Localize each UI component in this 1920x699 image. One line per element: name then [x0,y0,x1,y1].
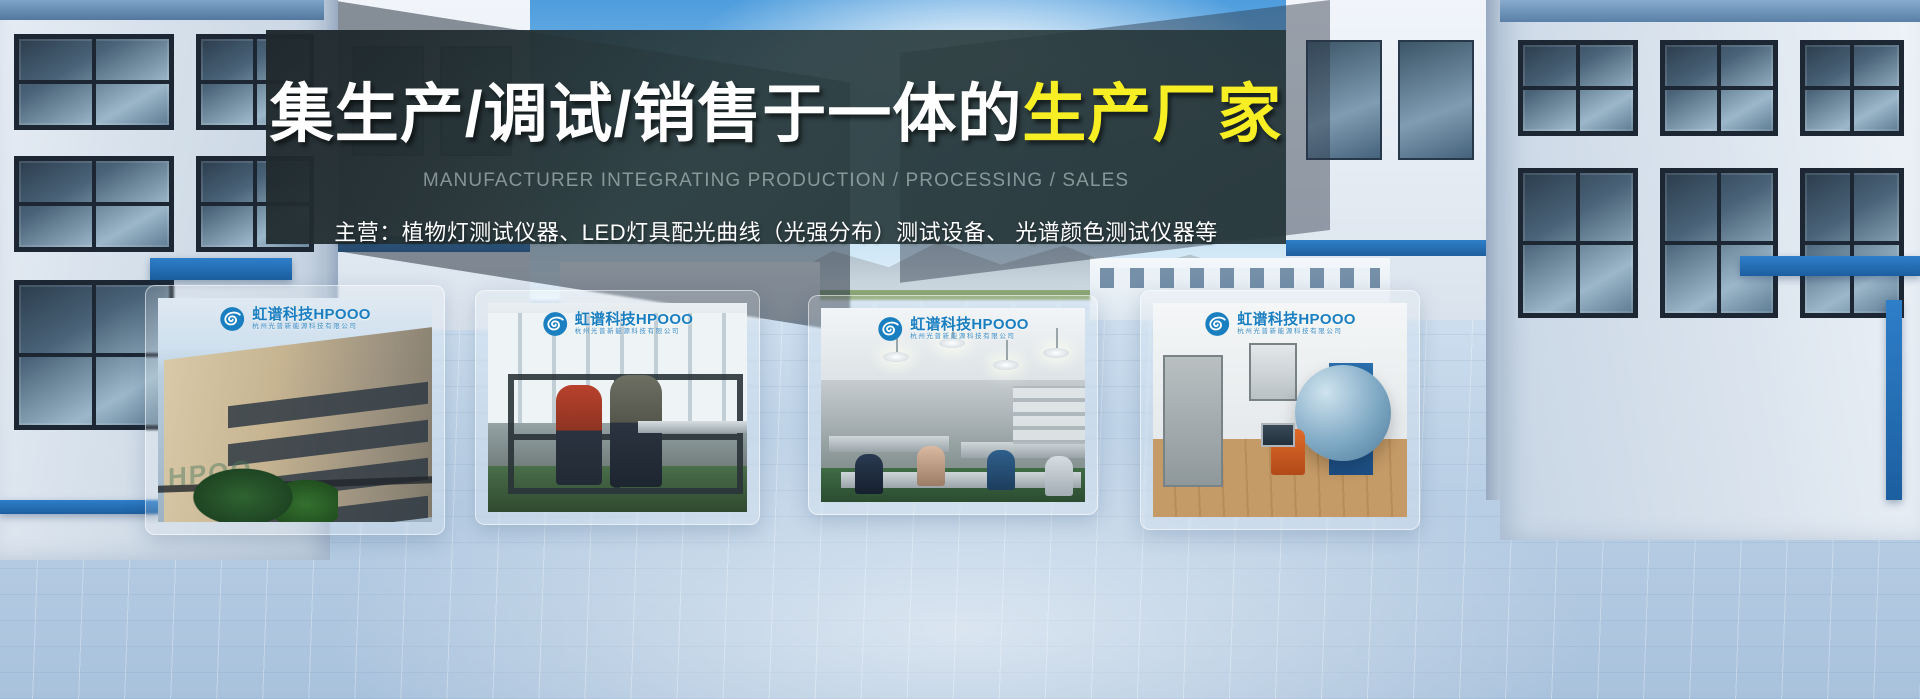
photo-workshop-welding [488,303,747,512]
desk-monitor [1261,423,1295,447]
pendant-lamp-1 [883,352,909,362]
card-office-building[interactable]: HPOO 虹谱科技HPOOO 杭州光普新能源科技有限公司 [145,285,445,535]
worker-3 [987,450,1015,490]
pendant-lamp-4 [1043,348,1069,358]
card-workshop-welding-image: 虹谱科技HPOOO 杭州光普新能源科技有限公司 [488,303,747,512]
worker-red-jacket [556,385,602,485]
card-assembly-line-image: 虹谱科技HPOOO 杭州光普新能源科技有限公司 [821,308,1085,502]
worker-1 [855,454,883,494]
worker-2 [917,446,945,486]
shelving-rack [1013,386,1085,444]
workbench-2 [961,442,1085,458]
card-testing-lab-image: 虹谱科技HPOOO 杭州光普新能源科技有限公司 [1153,303,1407,517]
worker-4 [1045,456,1073,496]
photo-testing-lab [1153,303,1407,517]
integrating-sphere [1295,365,1391,461]
card-assembly-line[interactable]: 虹谱科技HPOOO 杭州光普新能源科技有限公司 [808,295,1098,515]
photo-card-row: HPOO 虹谱科技HPOOO 杭州光普新能源科技有限公司 [0,0,1920,699]
environmental-chamber [1163,355,1223,487]
photo-assembly-line [821,308,1085,502]
card-workshop-welding[interactable]: 虹谱科技HPOOO 杭州光普新能源科技有限公司 [475,290,760,525]
workbench-slab [638,421,747,433]
pendant-lamp-2 [939,338,965,348]
photo-office-building: HPOO [158,298,432,522]
card-testing-lab[interactable]: 虹谱科技HPOOO 杭州光普新能源科技有限公司 [1140,290,1420,530]
control-cabinet [1249,343,1297,401]
foreground-trees [188,452,338,522]
pendant-lamp-3 [993,360,1019,370]
card-office-building-image: HPOO 虹谱科技HPOOO 杭州光普新能源科技有限公司 [158,298,432,522]
